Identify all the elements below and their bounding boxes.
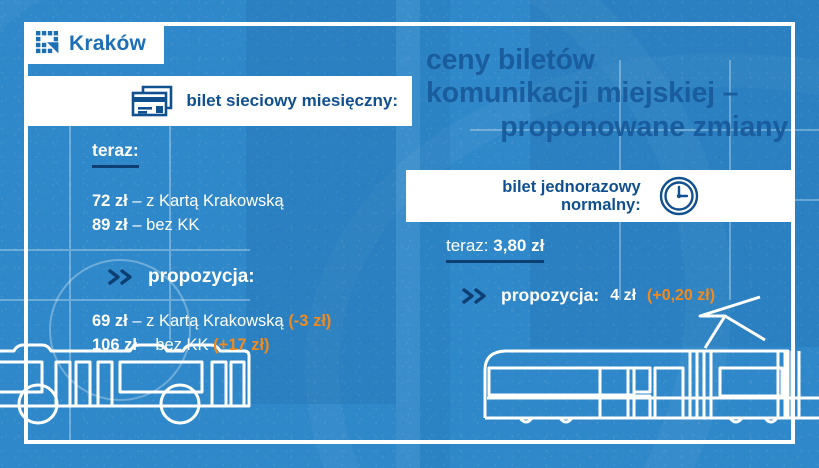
monthly-proposal-delta-1: (-3 zł) — [288, 312, 331, 330]
clock-icon — [659, 176, 699, 216]
title-line-1: ceny biletów — [426, 44, 806, 77]
monthly-now-desc-2: bez KK — [146, 216, 199, 234]
single-proposal-price: 4 zł — [610, 287, 636, 305]
monthly-proposal-desc-1: z Kartą Krakowską — [146, 312, 284, 330]
monthly-proposal-row-2: 106 zł – bez KK (+17 zł) — [92, 334, 392, 358]
monthly-proposal-delta-2: (+17 zł) — [213, 336, 269, 354]
title-line-2: komunikacji miejskiej – — [426, 77, 806, 110]
monthly-now-row-2: 89 zł – bez KK — [92, 214, 392, 238]
double-chevron-icon — [106, 268, 136, 286]
single-ticket-content: teraz: 3,80 zł propozycja: 4 zł (+0,20 z… — [446, 236, 786, 306]
title-line-3: proponowane zmiany — [426, 111, 806, 144]
monthly-now-label: teraz: — [92, 140, 139, 168]
infographic-canvas: Kraków ceny biletów komunikacji miejskie… — [0, 0, 819, 468]
single-ticket-label-line-2: normalny: — [502, 196, 640, 214]
krakow-grid-logo-icon — [36, 31, 60, 55]
single-now-label: teraz: — [446, 236, 489, 255]
brand-logo[interactable]: Kraków — [24, 22, 164, 64]
monthly-proposal-price-2: 106 zł — [92, 336, 137, 354]
monthly-proposal-desc-2: bez KK — [155, 336, 208, 354]
monthly-now-price-2: 89 zł — [92, 216, 128, 234]
monthly-ticket-content: teraz: 72 zł – z Kartą Krakowską 89 zł –… — [92, 140, 392, 358]
single-proposal-line: propozycja: 4 zł (+0,20 zł) — [446, 285, 786, 306]
travel-card-icon — [130, 84, 174, 118]
monthly-ticket-label: bilet sieciowy miesięczny: — [186, 91, 398, 110]
monthly-now-price-1: 72 zł — [92, 192, 128, 210]
single-ticket-ribbon: bilet jednorazowy normalny: — [406, 170, 795, 222]
monthly-proposal-dash-1: – — [132, 312, 141, 330]
single-now-line: teraz: 3,80 zł — [446, 236, 544, 263]
page-title: ceny biletów komunikacji miejskiej – pro… — [426, 44, 806, 144]
monthly-proposal-rows: 69 zł – z Kartą Krakowską (-3 zł) 106 zł… — [92, 310, 392, 358]
monthly-proposal-dash-2: – — [142, 336, 151, 354]
double-chevron-icon — [460, 287, 490, 305]
single-ticket-label: bilet jednorazowy normalny: — [502, 178, 640, 215]
monthly-proposal-price-1: 69 zł — [92, 312, 128, 330]
monthly-proposal-heading: propozycja: — [92, 266, 392, 288]
brand-name: Kraków — [69, 33, 146, 54]
monthly-proposal-label: propozycja: — [148, 266, 255, 288]
single-proposal-delta: (+0,20 zł) — [647, 287, 715, 305]
single-now-price: 3,80 zł — [493, 236, 544, 255]
single-proposal-label: propozycja: — [501, 285, 599, 306]
monthly-now-dash-1: – — [132, 192, 141, 210]
monthly-now-dash-2: – — [132, 216, 141, 234]
monthly-now-rows: 72 zł – z Kartą Krakowską 89 zł – bez KK — [92, 190, 392, 238]
monthly-now-desc-1: z Kartą Krakowską — [146, 192, 284, 210]
monthly-proposal-row-1: 69 zł – z Kartą Krakowską (-3 zł) — [92, 310, 392, 334]
monthly-ticket-ribbon: bilet sieciowy miesięczny: — [24, 76, 412, 126]
single-ticket-label-line-1: bilet jednorazowy — [502, 178, 640, 196]
monthly-now-row-1: 72 zł – z Kartą Krakowską — [92, 190, 392, 214]
